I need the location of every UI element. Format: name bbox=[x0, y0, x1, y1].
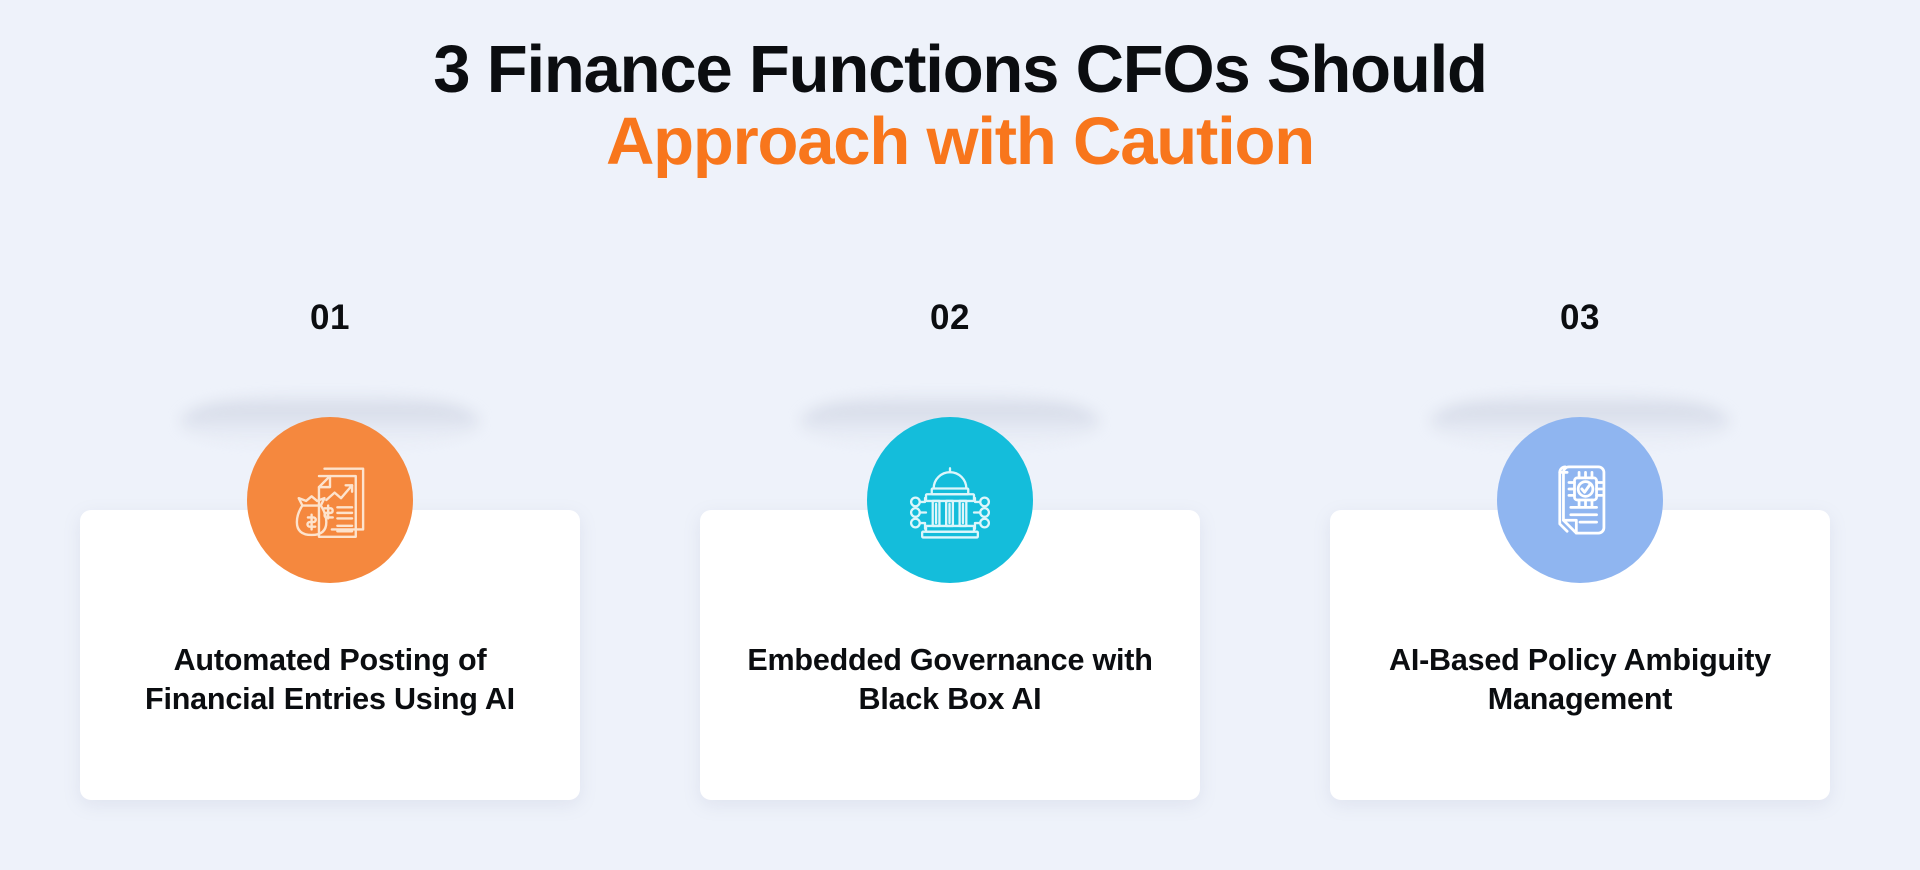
step-number-03: 03 bbox=[1330, 300, 1830, 340]
card-label-2: Embedded Governance with Black Box AI bbox=[734, 641, 1166, 719]
card-label-1: Automated Posting of Financial Entries U… bbox=[114, 641, 546, 719]
card-column-1: 01 bbox=[80, 300, 580, 340]
government-building-circuit-icon bbox=[867, 417, 1033, 583]
document-chip-check-icon bbox=[1497, 417, 1663, 583]
step-number-02: 02 bbox=[700, 300, 1200, 340]
money-bag-financial-report-icon bbox=[247, 417, 413, 583]
card-column-3: 03 bbox=[1330, 300, 1830, 340]
cards-row: 01 bbox=[0, 0, 1920, 870]
card-label-3: AI-Based Policy Ambiguity Management bbox=[1364, 641, 1796, 719]
step-number-01: 01 bbox=[80, 300, 580, 340]
card-column-2: 02 bbox=[700, 300, 1200, 340]
